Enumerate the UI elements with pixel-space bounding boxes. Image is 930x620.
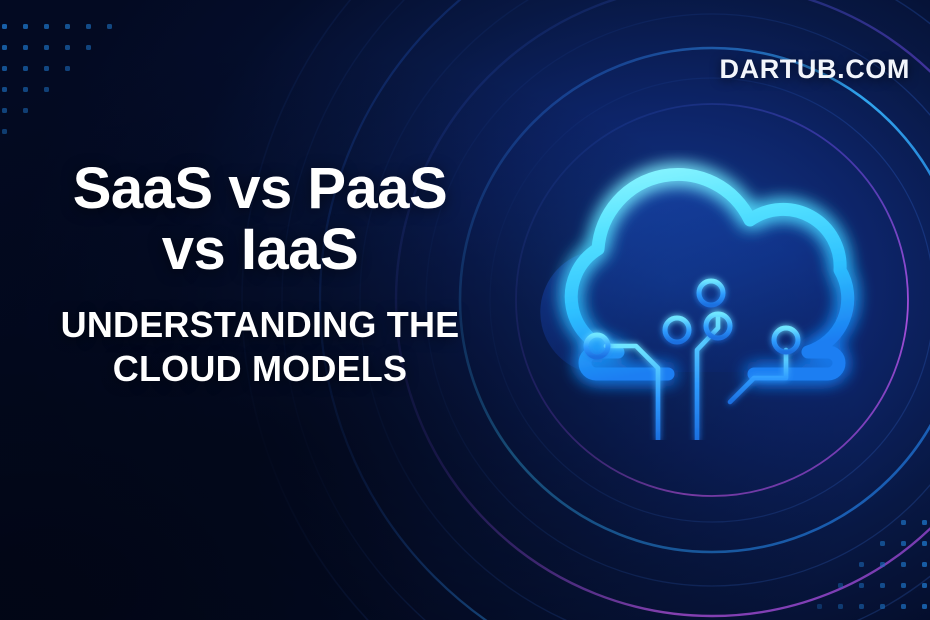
decor-dot <box>901 520 906 525</box>
decor-dot <box>859 583 864 588</box>
decor-dot <box>44 87 49 92</box>
title-line-1: SaaS vs PaaS <box>73 156 448 221</box>
decor-dot <box>901 604 906 609</box>
decor-dot <box>23 108 28 113</box>
decor-dot <box>880 562 885 567</box>
decor-dot <box>922 562 927 567</box>
decor-dot <box>922 541 927 546</box>
decor-dot <box>65 45 70 50</box>
subtitle-line-2: CLOUD MODELS <box>113 348 407 389</box>
page-title: SaaS vs PaaS vs IaaS <box>0 158 520 281</box>
decor-dot <box>922 604 927 609</box>
title-line-2: vs IaaS <box>162 217 358 282</box>
page-subtitle: UNDERSTANDING THE CLOUD MODELS <box>0 303 520 391</box>
circuit-trailing-lines <box>658 374 711 440</box>
decor-dot <box>817 604 822 609</box>
decor-dot <box>23 45 28 50</box>
decor-dot <box>880 583 885 588</box>
decor-dot <box>859 604 864 609</box>
cloud-circuit-icon <box>540 150 880 440</box>
decor-dot <box>44 45 49 50</box>
decor-dot <box>880 541 885 546</box>
subtitle-line-1: UNDERSTANDING THE <box>61 304 460 345</box>
decor-dot <box>23 87 28 92</box>
site-watermark: DARTUB.COM <box>720 54 910 85</box>
decor-dot <box>23 66 28 71</box>
decor-dot <box>922 583 927 588</box>
decor-dot <box>86 24 91 29</box>
decor-dot <box>2 66 7 71</box>
decor-dot <box>2 108 7 113</box>
decor-dot <box>86 45 91 50</box>
decor-dot <box>838 583 843 588</box>
decor-dot <box>901 562 906 567</box>
decor-dot <box>880 604 885 609</box>
decor-dot <box>44 24 49 29</box>
poster-canvas: SaaS vs PaaS vs IaaS UNDERSTANDING THE C… <box>0 0 930 620</box>
decor-dot <box>23 24 28 29</box>
decor-dot <box>65 24 70 29</box>
decor-dot <box>107 24 112 29</box>
decor-dot <box>922 520 927 525</box>
decor-dot <box>2 45 7 50</box>
decor-dot <box>901 541 906 546</box>
decor-dot <box>2 87 7 92</box>
decor-dot <box>2 24 7 29</box>
headline-block: SaaS vs PaaS vs IaaS UNDERSTANDING THE C… <box>0 158 520 391</box>
decor-dot <box>838 604 843 609</box>
decor-dot <box>859 562 864 567</box>
decor-dot <box>65 66 70 71</box>
decor-dot <box>44 66 49 71</box>
decor-dot <box>2 129 7 134</box>
decor-dot <box>901 583 906 588</box>
